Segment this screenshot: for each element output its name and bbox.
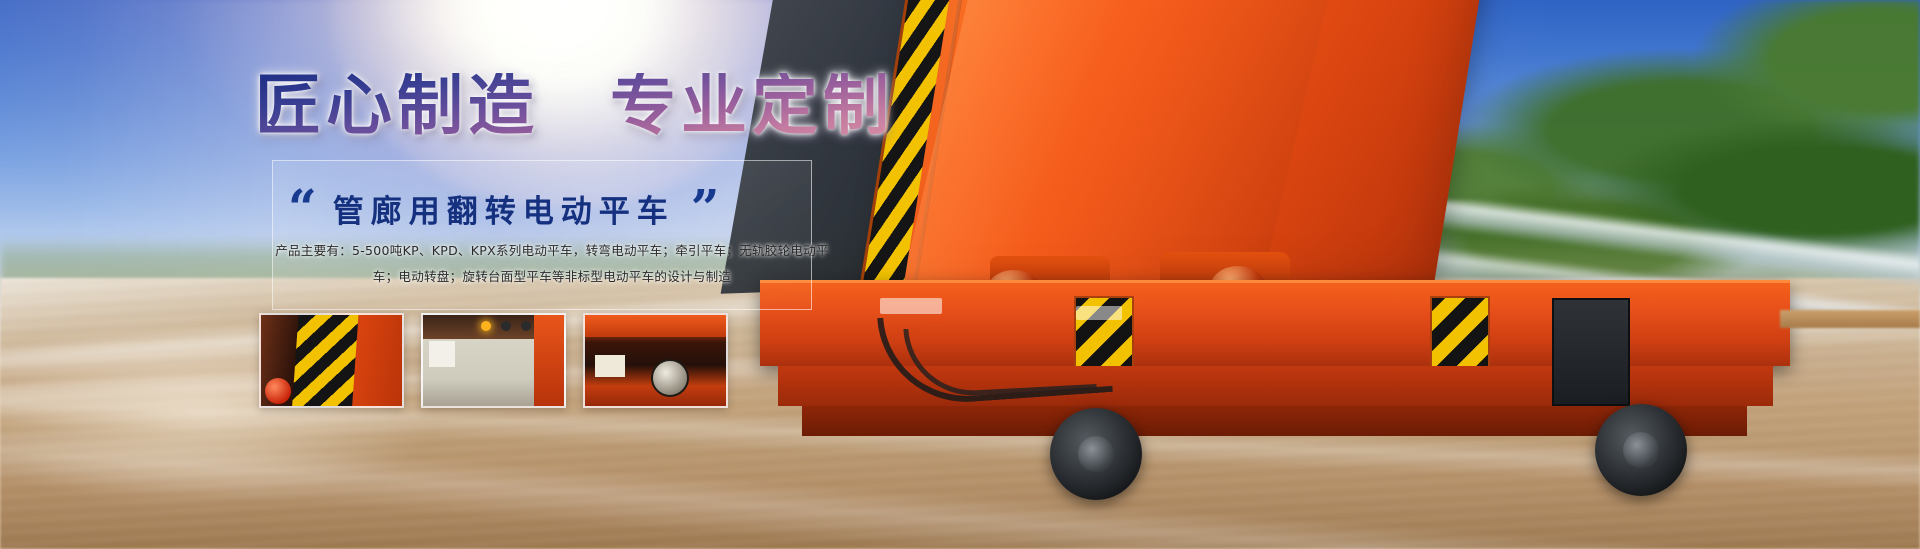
subtitle-row: “ 管廊用翻转电动平车 ” [288, 183, 720, 233]
cart-control-box [1552, 298, 1630, 406]
thumb-control-cabinet[interactable] [421, 313, 566, 408]
cart-wheel-left [1050, 408, 1142, 500]
cart-track-rail [1780, 310, 1920, 328]
cabinet-label [429, 341, 455, 367]
junction-box [595, 355, 625, 377]
cart-name-plate [880, 298, 942, 314]
thumb-hazard-stripe-corner[interactable] [259, 313, 404, 408]
cart-wheel-right [1595, 404, 1687, 496]
subtitle: 管廊用翻转电动平车 [333, 186, 675, 231]
cabinet-side-panel [534, 315, 564, 406]
quote-close-icon: ” [691, 183, 720, 233]
thumbnail-gallery [259, 313, 728, 408]
product-description: 产品主要有：5-500吨KP、KPD、KPX系列电动平车，转弯电动平车；牵引平车… [272, 238, 832, 290]
promo-banner: 匠心制造 专业定制 “ 管廊用翻转电动平车 ” 产品主要有：5-500吨KP、K… [0, 0, 1920, 549]
quote-open-icon: “ [288, 183, 317, 233]
thumb-wheel-detail[interactable] [583, 313, 728, 408]
page-title: 匠心制造 专业定制 [255, 73, 894, 139]
